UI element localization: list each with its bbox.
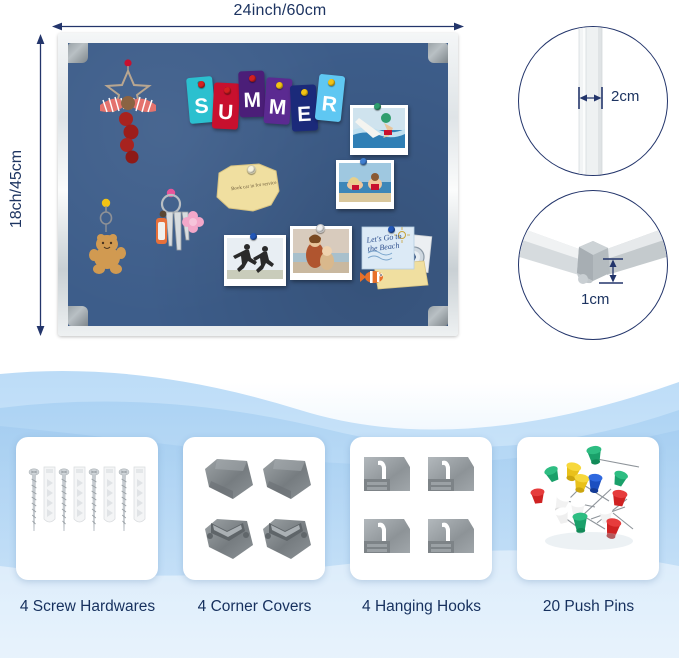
pin-mother-child-photo <box>316 224 325 233</box>
keys-keychain <box>146 188 206 273</box>
felt-surface: S U M M E R <box>68 43 448 326</box>
pin-tag-m2 <box>276 82 283 89</box>
pin-beach-girls-photo <box>360 158 367 165</box>
pin-tag-m1 <box>249 75 256 82</box>
corner-cover-top-right <box>428 43 448 63</box>
label-push-pins: 20 Push Pins <box>501 598 676 616</box>
corner-cover-bottom-left <box>68 306 88 326</box>
product-infographic: 24inch/60cm 18ch/45cm S U <box>0 0 679 658</box>
pin-tag-s <box>198 81 205 88</box>
frame-thickness-label: 2cm <box>611 88 639 105</box>
bulletin-board: S U M M E R <box>58 33 458 336</box>
label-hanging-hooks: 4 Hanging Hooks <box>334 598 509 616</box>
surfing-photo <box>350 105 408 155</box>
pin-tag-e <box>301 89 308 96</box>
accessory-labels: 4 Screw Hardwares 4 Corner Covers 4 Hang… <box>0 352 679 658</box>
star-bell-ornament <box>90 53 170 173</box>
label-screw-hardwares: 4 Screw Hardwares <box>0 598 175 616</box>
width-dimension-arrow <box>52 22 464 31</box>
beach-note-cluster: Let's Go to the Beach <box>358 223 436 293</box>
corner-cover-bottom-right <box>428 306 448 326</box>
frame-thickness-detail: 2cm <box>518 26 668 176</box>
corner-height-label: 1cm <box>581 291 609 308</box>
beach-girls-photo <box>336 160 394 209</box>
pin-surfing-photo <box>374 103 381 110</box>
corner-height-detail: 1cm <box>518 190 668 340</box>
mother-child-photo <box>290 226 352 280</box>
car-service-note: Book car in for service <box>213 161 283 219</box>
pin-tag-u <box>224 87 231 94</box>
width-dimension-label: 24inch/60cm <box>200 2 360 20</box>
accessories-section: 4 Screw Hardwares 4 Corner Covers 4 Hang… <box>0 352 679 658</box>
label-corner-covers: 4 Corner Covers <box>167 598 342 616</box>
pin-beach-note <box>388 226 395 233</box>
height-dimension-label: 18ch/45cm <box>8 129 26 249</box>
pin-car-service-note <box>247 165 256 174</box>
pin-tag-r <box>328 79 335 86</box>
board-dimensions-section: 24inch/60cm 18ch/45cm S U <box>0 0 679 352</box>
height-dimension-arrow <box>36 34 45 336</box>
pin-jumping-photo <box>250 233 257 240</box>
teddy-bear-keychain <box>88 198 138 276</box>
summer-banner: S U M M E R <box>188 61 348 123</box>
corner-cover-top-left <box>68 43 88 63</box>
jumping-photo <box>224 235 286 286</box>
